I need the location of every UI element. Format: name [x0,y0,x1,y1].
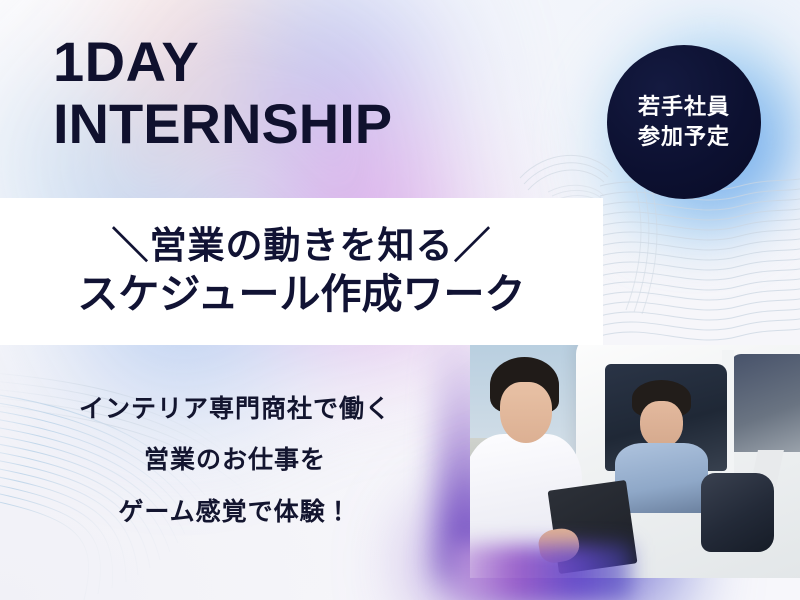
lead-line-3: ゲーム感覚で体験！ [20,487,450,538]
badge-line-1: 若手社員 [638,92,730,122]
lead-copy: インテリア専門商社で働く 営業のお仕事を ゲーム感覚で体験！ [20,384,450,538]
page-title: 1DAY INTERNSHIP [53,34,392,152]
photo-bottom-gradient-strip [436,545,632,600]
photo-driver-face [640,401,683,448]
status-badge: 若手社員 参加予定 [607,45,761,199]
photo-van-windshield [731,354,800,452]
poster-canvas: 1DAY INTERNSHIP 若手社員 参加予定 ＼営業の動きを知る／ スケジ… [0,0,800,600]
headline-line-2: スケジュール作成ワーク [77,272,525,318]
photo-sales-team [470,345,800,578]
photo-side-mirror [701,473,774,552]
badge-line-2: 参加予定 [638,122,730,152]
title-line-1: 1DAY [53,34,392,90]
title-line-2: INTERNSHIP [53,96,392,152]
photo-man-face [500,382,553,443]
lead-line-1: インテリア専門商社で働く [20,384,450,435]
headline-line-1: ＼営業の動きを知る／ [112,225,492,266]
headline-banner: ＼営業の動きを知る／ スケジュール作成ワーク [0,198,603,345]
lead-line-2: 営業のお仕事を [20,435,450,486]
